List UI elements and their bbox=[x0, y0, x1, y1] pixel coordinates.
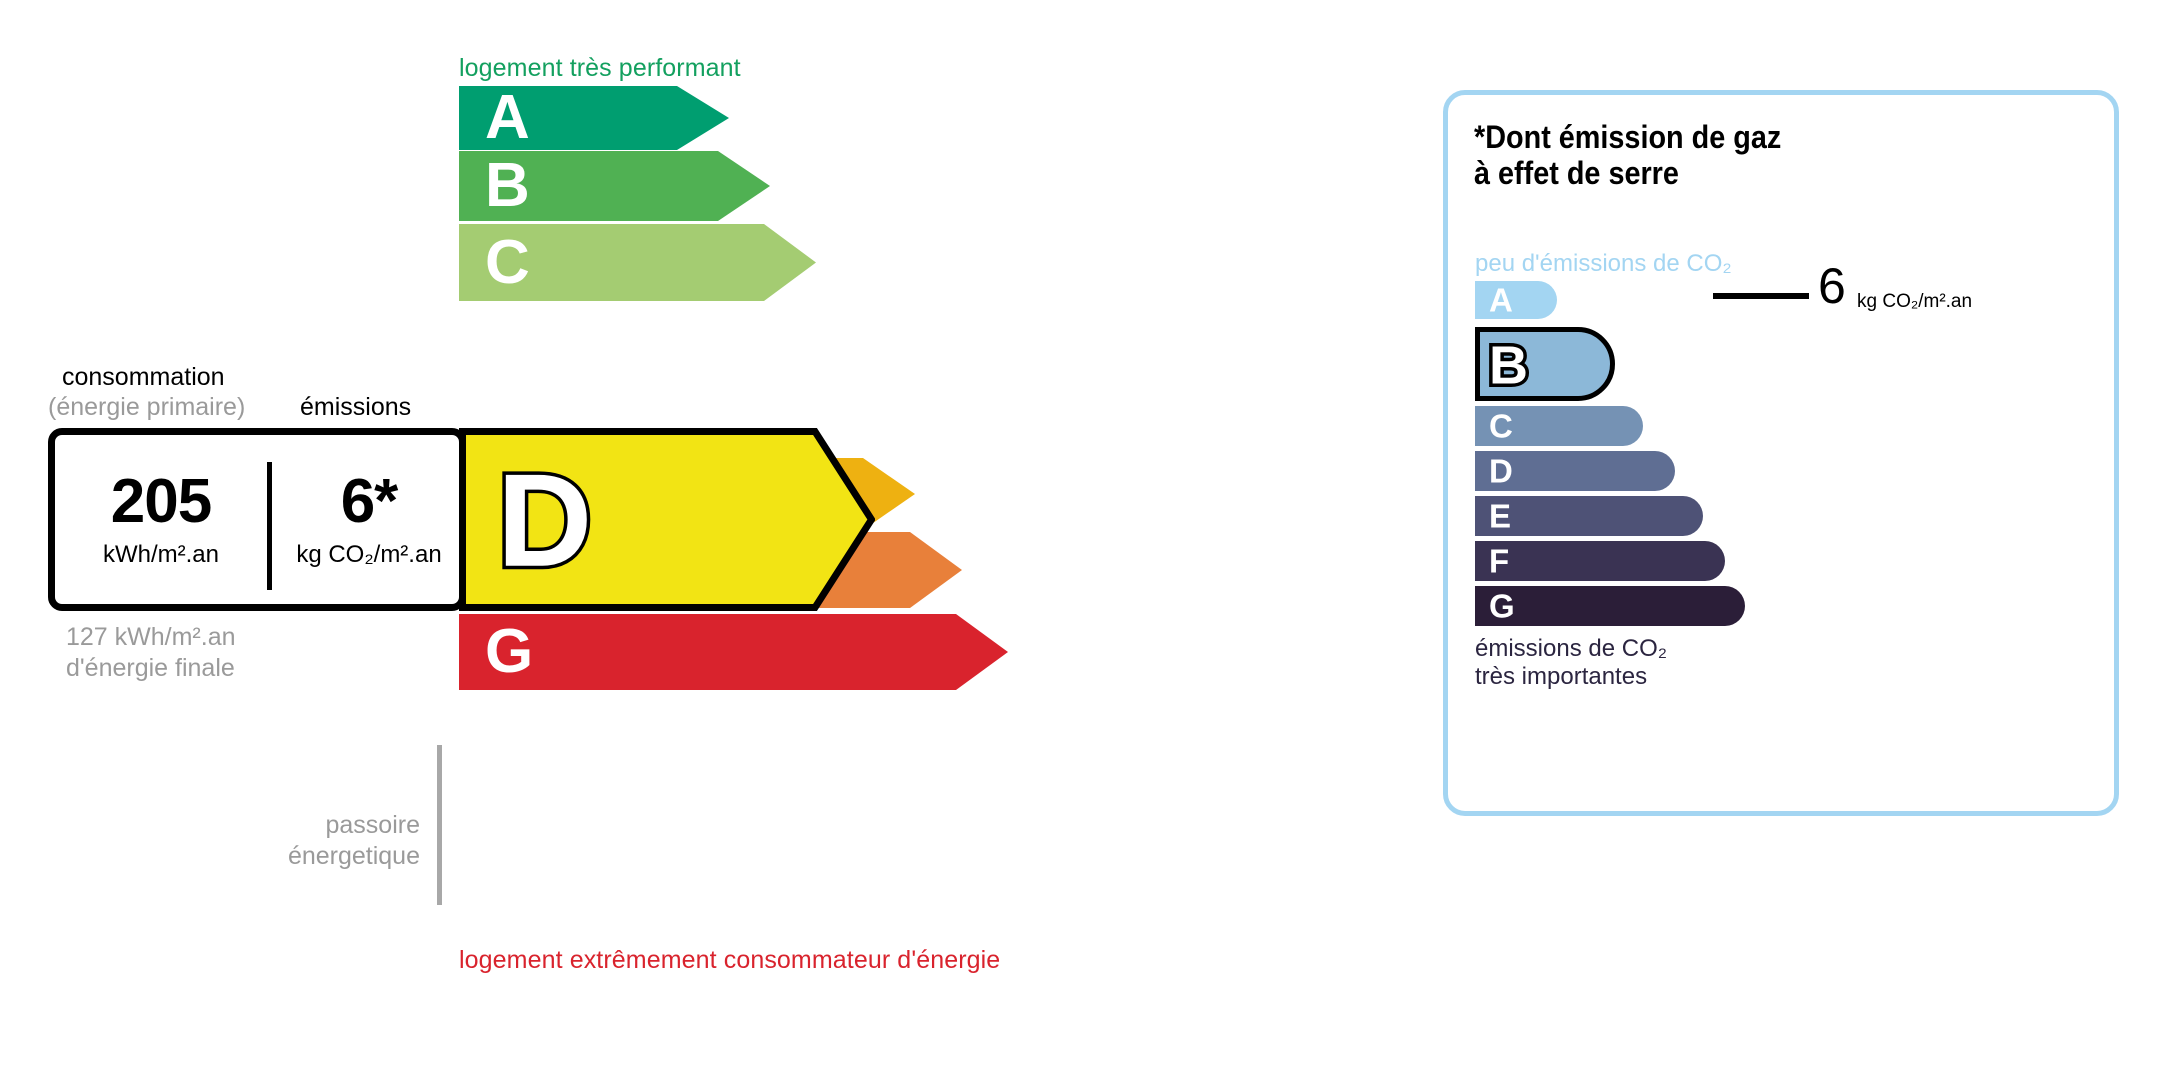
emission-unit: kg CO₂/m².an bbox=[296, 541, 441, 569]
energy-bar-letter-d: D bbox=[497, 447, 592, 594]
co2-bar-letter-g: G bbox=[1489, 590, 1515, 623]
consumption-value-cell: 205 kWh/m².an bbox=[55, 435, 267, 604]
energy-bar-letter-c: C bbox=[485, 232, 530, 294]
label-energie-primaire: (énergie primaire) bbox=[48, 393, 245, 422]
label-emissions: émissions bbox=[300, 393, 411, 422]
co2-bar-shape-a: A bbox=[1475, 281, 1557, 319]
consumption-unit: kWh/m².an bbox=[103, 541, 219, 569]
co2-bar-letter-f: F bbox=[1489, 545, 1509, 578]
energy-performance-chart: logement très performant A B C E F G bbox=[0, 0, 1300, 1079]
co2-value: 6 bbox=[1818, 261, 1846, 311]
co2-bar-e: E bbox=[1475, 496, 1703, 536]
energy-top-caption: logement très performant bbox=[459, 54, 741, 83]
energy-bar-letter-g: G bbox=[485, 621, 533, 683]
energie-finale-line2: d'énergie finale bbox=[66, 653, 236, 684]
co2-bar-a: A bbox=[1475, 281, 1557, 319]
co2-bar-f: F bbox=[1475, 541, 1725, 581]
co2-bar-shape-g: G bbox=[1475, 586, 1745, 626]
co2-bottom-line2: très importantes bbox=[1475, 663, 1667, 691]
energy-bar-shape-d: D bbox=[459, 428, 875, 611]
co2-bar-letter-c: C bbox=[1489, 410, 1513, 443]
co2-bar-b-selected: B bbox=[1475, 327, 1615, 401]
energy-bar-d-selected: D bbox=[459, 428, 875, 611]
energy-bar-letter-b: B bbox=[485, 155, 530, 217]
energy-bar-g: G bbox=[459, 614, 1008, 690]
co2-bar-shape-d: D bbox=[1475, 451, 1675, 491]
co2-bar-shape-f: F bbox=[1475, 541, 1725, 581]
energy-bar-b: B bbox=[459, 151, 770, 221]
energy-bar-shape-g bbox=[459, 614, 1008, 690]
co2-bar-d: D bbox=[1475, 451, 1675, 491]
passoire-line1: passoire bbox=[150, 810, 420, 841]
co2-title-line2: à effet de serre bbox=[1474, 156, 1781, 192]
co2-bottom-caption: émissions de CO₂ très importantes bbox=[1475, 635, 1667, 691]
co2-title-line1: *Dont émission de gaz bbox=[1474, 120, 1781, 156]
co2-bar-shape-b: B bbox=[1475, 327, 1615, 401]
co2-bar-c: C bbox=[1475, 406, 1643, 446]
co2-bottom-line1: émissions de CO₂ bbox=[1475, 635, 1667, 663]
energy-bar-a: A bbox=[459, 86, 729, 150]
passoire-marker-line bbox=[437, 745, 442, 905]
co2-unit: kg CO₂/m².an bbox=[1857, 291, 1972, 313]
label-energie-finale: 127 kWh/m².an d'énergie finale bbox=[66, 622, 236, 684]
co2-leader-line bbox=[1713, 293, 1809, 299]
co2-bar-letter-b: B bbox=[1489, 335, 1528, 395]
co2-top-caption: peu d'émissions de CO₂ bbox=[1475, 250, 1732, 278]
label-consommation: consommation bbox=[62, 363, 225, 392]
co2-bar-letter-e: E bbox=[1489, 500, 1511, 533]
label-passoire-energetique: passoire énergetique bbox=[150, 810, 420, 872]
co2-bar-g: G bbox=[1475, 586, 1745, 626]
co2-bar-shape-c: C bbox=[1475, 406, 1643, 446]
energy-bottom-caption: logement extrêmement consommateur d'éner… bbox=[459, 946, 1000, 975]
co2-bar-shape-e: E bbox=[1475, 496, 1703, 536]
passoire-line2: énergetique bbox=[150, 841, 420, 872]
co2-bar-letter-d: D bbox=[1489, 455, 1513, 488]
emission-value-cell: 6* kg CO₂/m².an bbox=[272, 435, 466, 604]
energie-finale-line1: 127 kWh/m².an bbox=[66, 622, 236, 653]
co2-panel-title: *Dont émission de gaz à effet de serre bbox=[1474, 120, 1781, 192]
co2-bar-letter-a: A bbox=[1489, 284, 1513, 317]
value-box: 205 kWh/m².an 6* kg CO₂/m².an bbox=[48, 428, 466, 611]
energy-bar-letter-a: A bbox=[485, 87, 530, 149]
consumption-value: 205 bbox=[111, 471, 211, 533]
energy-bar-c: C bbox=[459, 224, 816, 301]
emission-value: 6* bbox=[341, 471, 398, 533]
co2-emission-panel: *Dont émission de gaz à effet de serre p… bbox=[1443, 90, 2119, 816]
